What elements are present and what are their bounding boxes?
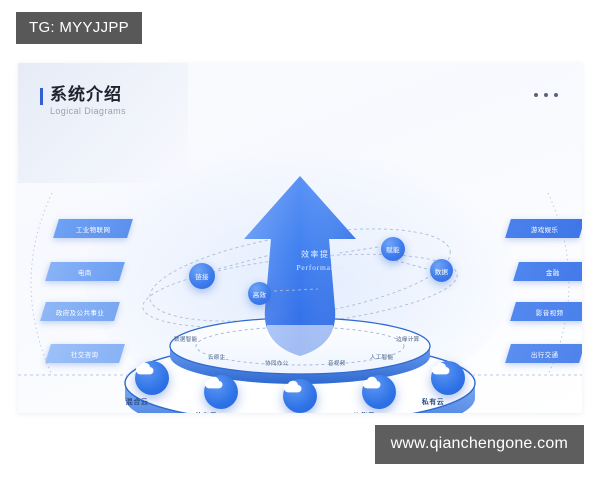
chip-label: 社交咨询 [71,349,99,359]
orbit-node-label: 数据 [435,266,449,276]
industry-chip-right-2[interactable]: 金融 [513,262,582,281]
orbit-node-label: 链接 [195,271,209,281]
orbit-node-efficiency[interactable]: 高效 [248,282,271,305]
cloud-node-public[interactable] [204,375,238,409]
site-watermark: www.qianchengone.com [375,425,584,464]
capability-label-collaboration: 协同办公 [265,359,289,367]
chip-label: 影音视频 [536,307,564,317]
cloud-label-hybrid: 混合云 [102,397,172,407]
chip-label: 出行交通 [531,349,559,359]
cloud-node-hybrid[interactable] [135,361,169,395]
cloud-icon [431,361,450,375]
chip-label: 金融 [546,267,560,277]
industry-chip-right-4[interactable]: 出行交通 [505,344,582,363]
industry-chip-left-1[interactable]: 工业物联网 [53,219,133,238]
chip-label: 工业物联网 [76,224,111,234]
cloud-label-private: 私有云 [398,397,468,407]
cloud-label-partner: 伙伴云 [329,411,399,413]
slide-card: 系统介绍 Logical Diagrams [18,63,582,413]
chip-label: 政府及公共事业 [56,307,104,317]
capability-label-data-intelligence: 数据智能 [174,335,198,343]
chip-label: 游戏娱乐 [531,224,559,234]
orbit-node-label: 高效 [253,289,267,299]
capability-label-audio-video: 音视频 [328,359,346,367]
orbit-node-label: 赋能 [386,244,400,254]
orbit-node-data[interactable]: 数据 [430,259,453,282]
orbit-node-link[interactable]: 链接 [189,263,215,289]
capability-label-edge-computing: 边缘计算 [396,335,420,343]
chip-label: 电商 [78,267,92,277]
cloud-icon [204,375,223,389]
cloud-label-public: 共有云 [171,411,241,413]
capability-label-ai: 人工智能 [370,353,394,361]
industry-chip-right-1[interactable]: 游戏娱乐 [505,219,582,238]
industry-chip-left-4[interactable]: 社交咨询 [45,344,125,363]
diagram-stage: 工业物联网 电商 政府及公共事业 社交咨询 游戏娱乐 金融 影音视频 出行交通 … [18,63,582,413]
industry-chip-right-3[interactable]: 影音视频 [510,302,582,321]
orbit-node-empower[interactable]: 赋能 [381,237,405,261]
cloud-node-edge[interactable] [283,379,317,413]
telegram-watermark: TG: MYYJJPP [16,12,142,44]
industry-chip-left-3[interactable]: 政府及公共事业 [40,302,120,321]
cloud-node-partner[interactable] [362,375,396,409]
industry-chip-left-2[interactable]: 电商 [45,262,125,281]
capability-label-cloud-native: 云原生 [208,353,226,361]
cloud-node-private[interactable] [431,361,465,395]
cloud-icon [362,375,381,389]
cloud-icon [283,379,302,393]
cloud-icon [135,361,154,375]
